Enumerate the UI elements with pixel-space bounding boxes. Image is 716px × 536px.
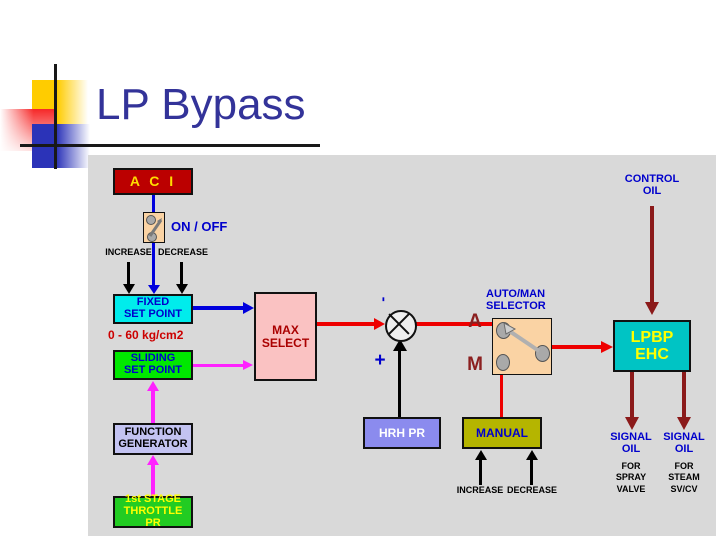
connector-maxselect-to-sum [317, 322, 379, 326]
arrowhead-selector-to-lpbp [601, 341, 613, 353]
selector-lever-icon [493, 319, 553, 376]
arrowhead-stage1-to-funcgen [147, 455, 159, 465]
label-signal-oil-right-sub2: STEAM [646, 472, 716, 483]
label-auto-man-line1: AUTO/MAN [486, 288, 576, 300]
arrowhead-maxselect-to-sum [374, 318, 385, 330]
label-signal-oil-right-sub1: FOR [646, 461, 716, 472]
label-plus-sign: + [372, 351, 388, 372]
block-first-stage-throttle-pr[interactable]: 1st STAGE THROTTLE PR [113, 496, 193, 528]
block-max-select[interactable]: MAX SELECT [254, 292, 317, 381]
block-on-off-switch[interactable] [143, 212, 165, 243]
arrowhead-sliding-to-maxselect [243, 360, 253, 370]
label-auto-letter: A [466, 312, 484, 333]
connector-stage1-to-funcgen [151, 464, 155, 496]
block-auto-man-selector-switch[interactable] [492, 318, 552, 375]
arrowhead-signaloil-left [625, 417, 639, 430]
summing-junction-icon [385, 310, 417, 342]
block-funcgen-line2: GENERATOR [118, 439, 187, 451]
switch-lever-icon [144, 213, 166, 244]
label-manual-letter: M [466, 355, 484, 376]
arrowhead-decrease-bottom [526, 450, 538, 460]
block-lpbp-ehc[interactable]: LPBP EHC [613, 320, 691, 372]
block-stage1-line2: THROTTLE PR [115, 506, 191, 530]
block-lpbp-line1: LPBP [631, 329, 674, 346]
connector-fixed-to-maxselect [193, 306, 245, 310]
page-title: LP Bypass [96, 80, 306, 130]
connector-hrh-to-sum [398, 350, 401, 417]
connector-lpbp-to-signaloil-right [682, 372, 686, 420]
arrowhead-increase-bottom [475, 450, 487, 460]
block-manual-label: MANUAL [476, 427, 528, 440]
arrowhead-increase-top [123, 284, 135, 294]
arrowhead-funcgen-to-sliding [147, 381, 159, 391]
label-decrease-bottom: DECREASE [500, 486, 564, 496]
label-signal-oil-right: SIGNAL OIL [646, 431, 716, 455]
block-maxselect-line1: MAX [262, 324, 309, 337]
connector-lpbp-to-signaloil-left [630, 372, 634, 420]
connector-sliding-to-maxselect [193, 364, 245, 367]
label-auto-man-selector: AUTO/MAN SELECTOR [486, 288, 576, 312]
label-signal-oil-right-sub3: SV/CV [646, 484, 716, 495]
block-fixed-set-point[interactable]: FIXED SET POINT [113, 294, 193, 324]
label-control-oil-line2: OIL [608, 185, 696, 197]
label-decrease-top: DECREASE [150, 248, 216, 258]
label-auto-man-line2: SELECTOR [486, 300, 576, 312]
block-sliding-line2: SET POINT [124, 365, 182, 377]
block-fixed-line2: SET POINT [124, 309, 182, 321]
block-manual[interactable]: MANUAL [462, 417, 542, 449]
block-hrh-label: HRH PR [379, 427, 425, 440]
block-lpbp-line2: EHC [631, 346, 674, 363]
deco-cross-horizontal [20, 144, 320, 147]
connector-funcgen-to-sliding [151, 389, 155, 423]
label-pressure-range: 0 - 60 kg/cm2 [108, 329, 218, 342]
label-signal-oil-right-line2: OIL [646, 443, 716, 455]
block-aci-label: A C I [130, 174, 176, 189]
label-signal-oil-right-sub: FOR STEAM SV/CV [646, 461, 716, 495]
block-sliding-set-point[interactable]: SLIDING SET POINT [113, 350, 193, 380]
arrowhead-blue-into-fixed [148, 285, 160, 294]
arrowhead-fixed-to-maxselect [243, 302, 254, 314]
block-aci[interactable]: A C I [113, 168, 193, 195]
label-control-oil: CONTROL OIL [608, 173, 696, 197]
connector-increase-bottom [479, 460, 482, 485]
label-minus-sign: - [375, 292, 392, 306]
block-function-generator[interactable]: FUNCTION GENERATOR [113, 423, 193, 455]
connector-controloil-to-lpbp [650, 206, 654, 304]
deco-cross-vertical [54, 64, 57, 169]
diagram-panel: A C I ON / OFF INCREASE DECREASE FIXED S… [88, 155, 716, 536]
connector-selector-to-lpbp [552, 345, 604, 349]
connector-aci-to-onoff [152, 195, 155, 212]
block-hrh-pr[interactable]: HRH PR [363, 417, 441, 449]
connector-decrease-bottom [530, 460, 533, 485]
label-on-off: ON / OFF [171, 220, 227, 234]
label-control-oil-line1: CONTROL [608, 173, 696, 185]
connector-manual-to-selector [500, 373, 503, 417]
block-maxselect-line2: SELECT [262, 337, 309, 350]
arrowhead-controloil-to-lpbp [645, 302, 659, 315]
arrowhead-decrease-top [176, 284, 188, 294]
arrowhead-signaloil-right [677, 417, 691, 430]
label-signal-oil-right-line1: SIGNAL [646, 431, 716, 443]
